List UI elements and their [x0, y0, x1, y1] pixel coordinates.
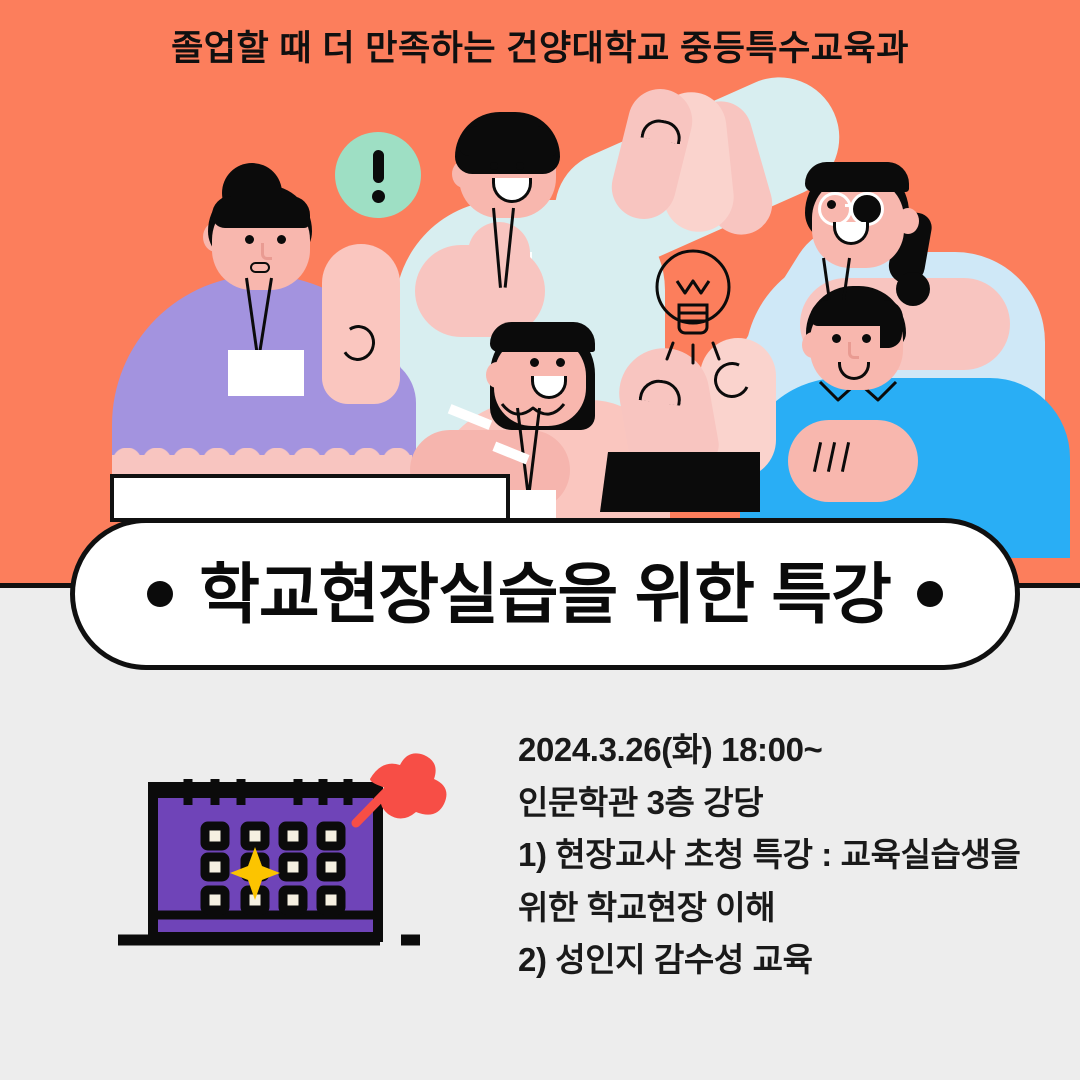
- figure-pink-fringe: [490, 322, 595, 352]
- figure-glasses-eye-left: [827, 200, 836, 209]
- illustration-panel: 졸업할 때 더 만족하는 건양대학교 중등특수교육과: [0, 0, 1080, 587]
- figure-mint-eye-left: [490, 162, 498, 170]
- poster-canvas: 졸업할 때 더 만족하는 건양대학교 중등특수교육과: [0, 0, 1080, 1080]
- desk-papers: [110, 474, 510, 522]
- banner-dot-right: [917, 581, 943, 607]
- glasses-lens-left-icon: [818, 192, 852, 226]
- page-title: 학교현장실습을 위한 특강: [199, 561, 891, 627]
- glasses-bridge-icon: [845, 204, 853, 207]
- figure-blue-fist: [788, 420, 918, 502]
- figure-purple-mouth: [250, 262, 270, 273]
- figure-glasses-fringe: [805, 162, 909, 192]
- banner-dot-left: [147, 581, 173, 607]
- detail-line-program-1a: 1) 현장교사 초청 특강 : 교육실습생을: [518, 833, 1048, 877]
- figure-pink-collar: [500, 402, 566, 422]
- figure-blue-sideburn: [880, 300, 902, 348]
- poster-headline: 졸업할 때 더 만족하는 건양대학교 중등특수교육과: [0, 20, 1080, 71]
- figure-purple-badge: [228, 350, 304, 396]
- laptop-icon: [600, 452, 760, 512]
- pointing-hand: [322, 244, 400, 404]
- figure-purple-nose: [261, 243, 272, 260]
- figure-purple-eye-left: [245, 235, 254, 244]
- detail-line-program-2: 2) 성인지 감수성 교육: [518, 938, 1048, 982]
- lightbulb-icon: [645, 243, 741, 378]
- figure-blue-nose: [848, 342, 859, 359]
- exclamation-dot: [372, 190, 385, 203]
- figure-glasses-ponytail-end: [896, 272, 930, 306]
- glasses-lens-right-icon: [850, 192, 884, 226]
- detail-line-datetime: 2024.3.26(화) 18:00~: [518, 728, 1048, 772]
- figure-blue-eye-right: [862, 334, 871, 343]
- calendar-icon: [108, 735, 448, 955]
- detail-line-venue: 인문학관 3층 강당: [518, 781, 1048, 825]
- figure-mint-fringe: [459, 126, 556, 156]
- figure-purple-eye-right: [277, 235, 286, 244]
- figure-pink-eye-right: [556, 358, 565, 367]
- figure-mint-eye-right: [516, 162, 524, 170]
- event-details: 2024.3.26(화) 18:00~ 인문학관 3층 강당 1) 현장교사 초…: [518, 728, 1048, 991]
- figure-purple-fringe: [212, 196, 310, 228]
- title-banner: 학교현장실습을 위한 특강: [70, 518, 1020, 670]
- detail-line-program-1b: 위한 학교현장 이해: [518, 886, 1048, 930]
- figure-pink-eye-left: [530, 358, 539, 367]
- figure-blue-eye-left: [832, 334, 841, 343]
- exclamation-bar: [373, 150, 384, 183]
